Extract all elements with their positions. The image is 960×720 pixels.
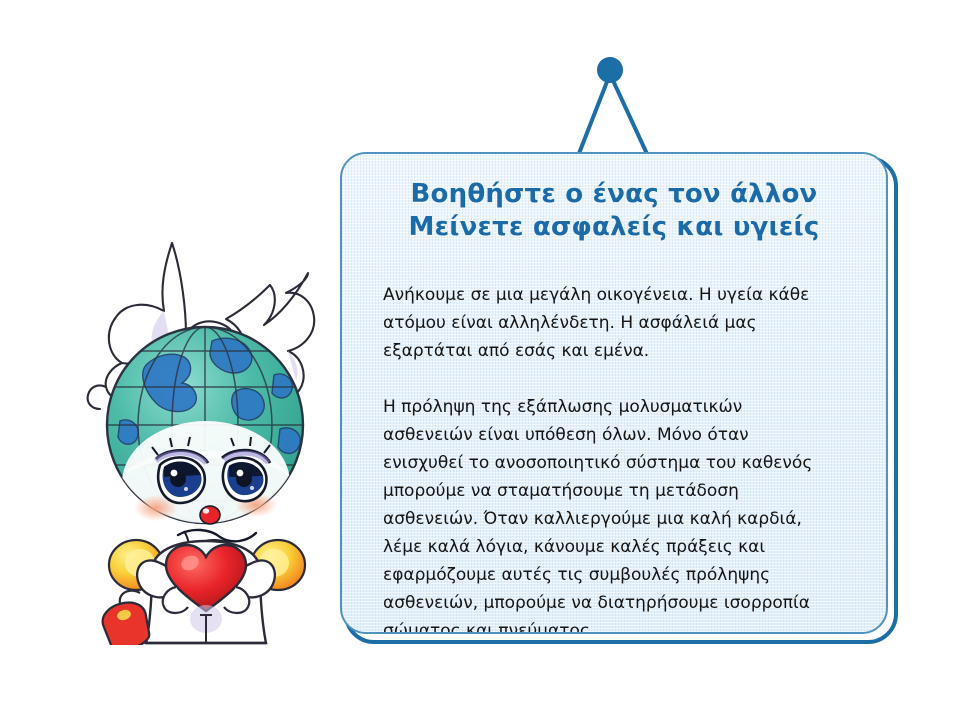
paragraph-2: Η πρόληψη της εξάπλωσης μολυσματικών ασθ… xyxy=(383,393,853,634)
poster-canvas: Βοηθήστε ο ένας τον άλλον Μείνετε ασφαλε… xyxy=(0,0,960,720)
page-title: Βοηθήστε ο ένας τον άλλον Μείνετε ασφαλε… xyxy=(342,178,886,244)
message-sign: Βοηθήστε ο ένας τον άλλον Μείνετε ασφαλε… xyxy=(340,152,902,648)
title-line-2: Μείνετε ασφαλείς και υγιείς xyxy=(342,211,886,244)
p2-line-2: ασθενειών είναι υπόθεση όλων. Μόνο όταν xyxy=(383,425,749,445)
title-line-1: Βοηθήστε ο ένας τον άλλον xyxy=(342,178,886,211)
p2-line-3: ενισχυθεί το ανοσοποιητικό σύστημα του κ… xyxy=(383,453,812,473)
p2-line-1: Η πρόληψη της εξάπλωσης μολυσματικών xyxy=(383,397,742,417)
hanging-pin xyxy=(597,57,623,83)
p2-line-8: ασθενειών, μπορούμε να διατηρήσουμε ισορ… xyxy=(383,593,810,613)
p1-line-3: εξαρτάται από εσάς και εμένα. xyxy=(383,341,649,361)
cord-right xyxy=(610,74,648,156)
p2-line-6: λέμε καλά λόγια, κάνουμε καλές πράξεις κ… xyxy=(383,537,765,557)
p1-line-2: ατόμου είναι αλληλένδετη. Η ασφάλειά μας xyxy=(383,313,757,333)
p2-line-7: εφαρμόζουμε αυτές τις συμβουλές πρόληψης xyxy=(383,565,770,585)
p2-line-5: ασθενειών. Όταν καλλιεργούμε μια καλή κα… xyxy=(383,509,802,529)
bag-icon xyxy=(99,591,154,645)
message-body: Ανήκουμε σε μια μεγάλη οικογένεια. Η υγε… xyxy=(383,281,853,634)
p2-line-9: σώματος και πνεύματος. xyxy=(383,621,595,634)
mascot-globe-child xyxy=(60,215,350,645)
p1-line-1: Ανήκουμε σε μια μεγάλη οικογένεια. Η υγε… xyxy=(383,285,809,305)
sign-panel: Βοηθήστε ο ένας τον άλλον Μείνετε ασφαλε… xyxy=(340,152,888,634)
mascot-body xyxy=(99,540,305,645)
p2-line-4: μπορούμε να σταματήσουμε τη μετάδοση xyxy=(383,481,739,501)
cord-left xyxy=(578,74,610,156)
paragraph-spacer xyxy=(383,365,853,393)
paragraph-1: Ανήκουμε σε μια μεγάλη οικογένεια. Η υγε… xyxy=(383,281,853,365)
